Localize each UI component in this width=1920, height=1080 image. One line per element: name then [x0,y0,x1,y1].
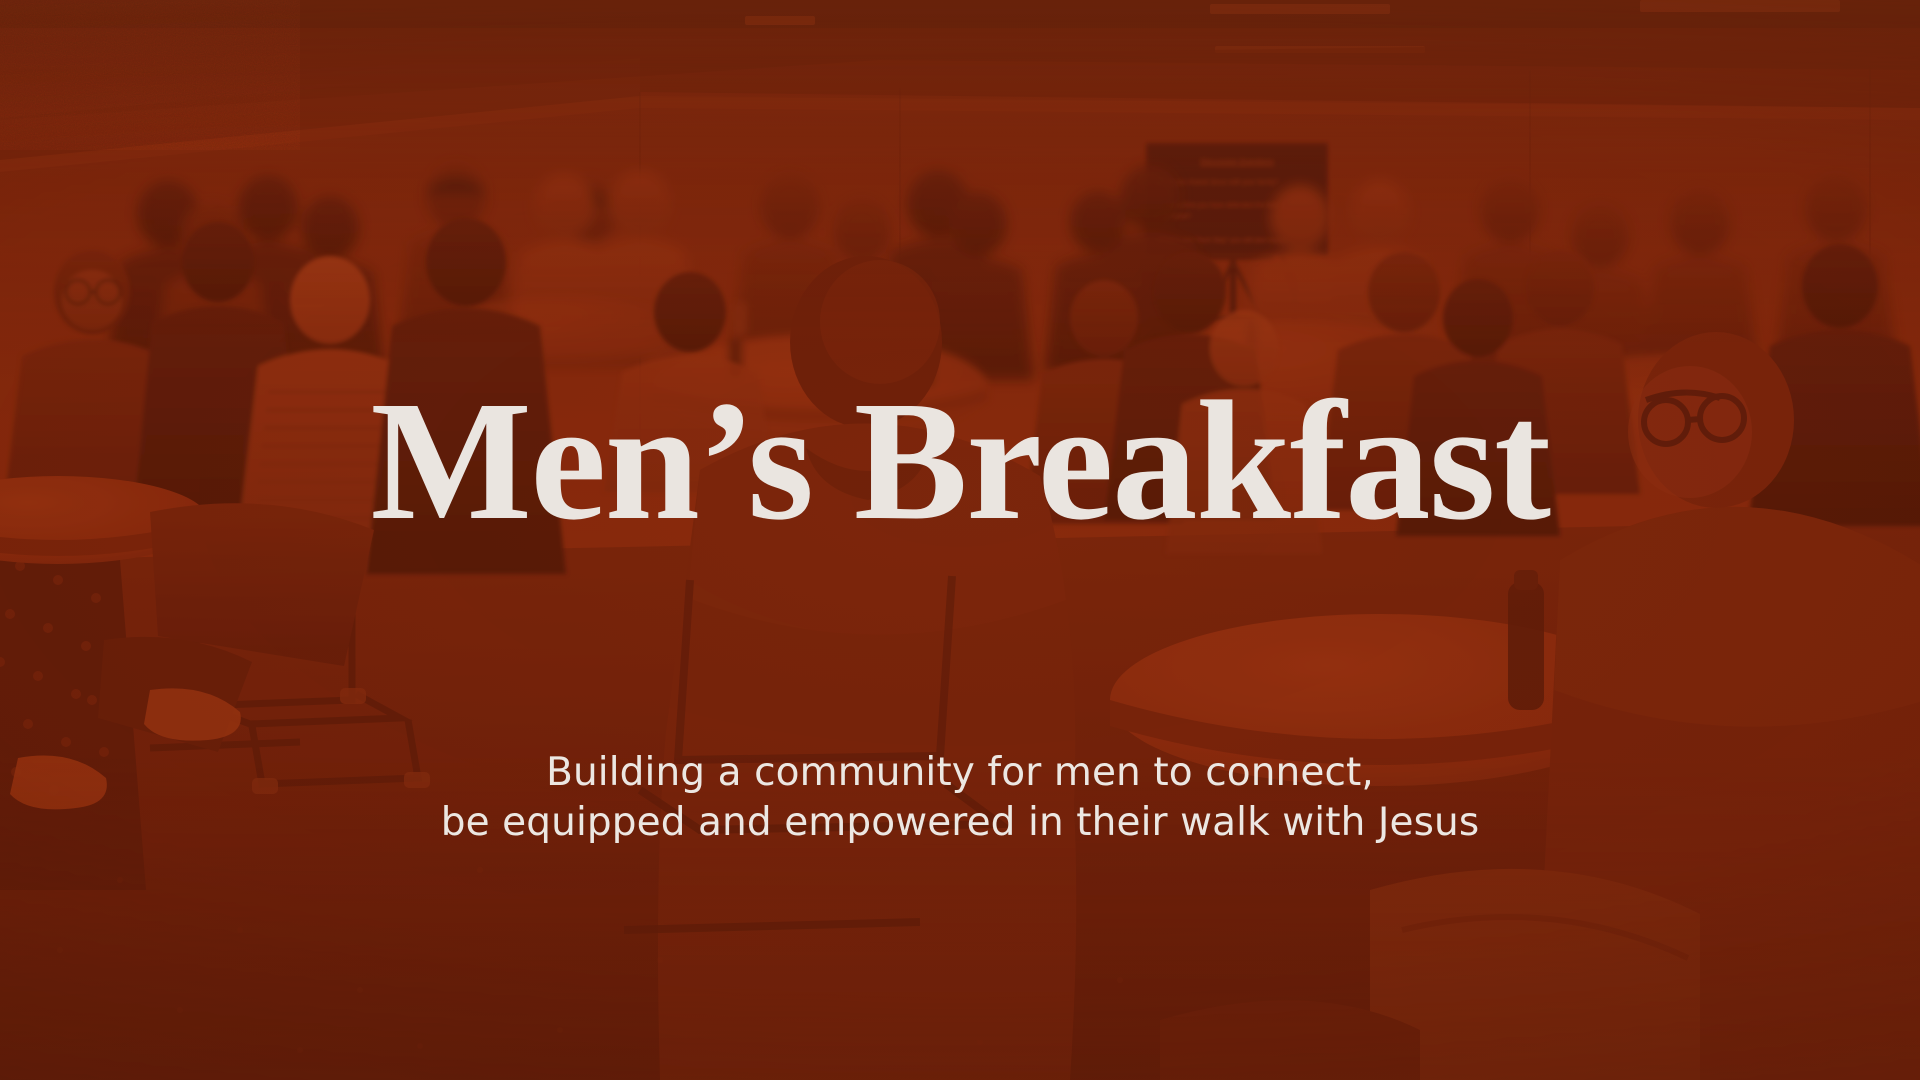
svg-text:Discussion Questions: Discussion Questions [1200,157,1273,166]
event-banner: Discussion Questions -Have you shared Je… [0,0,1920,1080]
background-photo: Discussion Questions -Have you shared Je… [0,0,1920,1080]
water-bottle [1508,570,1544,710]
